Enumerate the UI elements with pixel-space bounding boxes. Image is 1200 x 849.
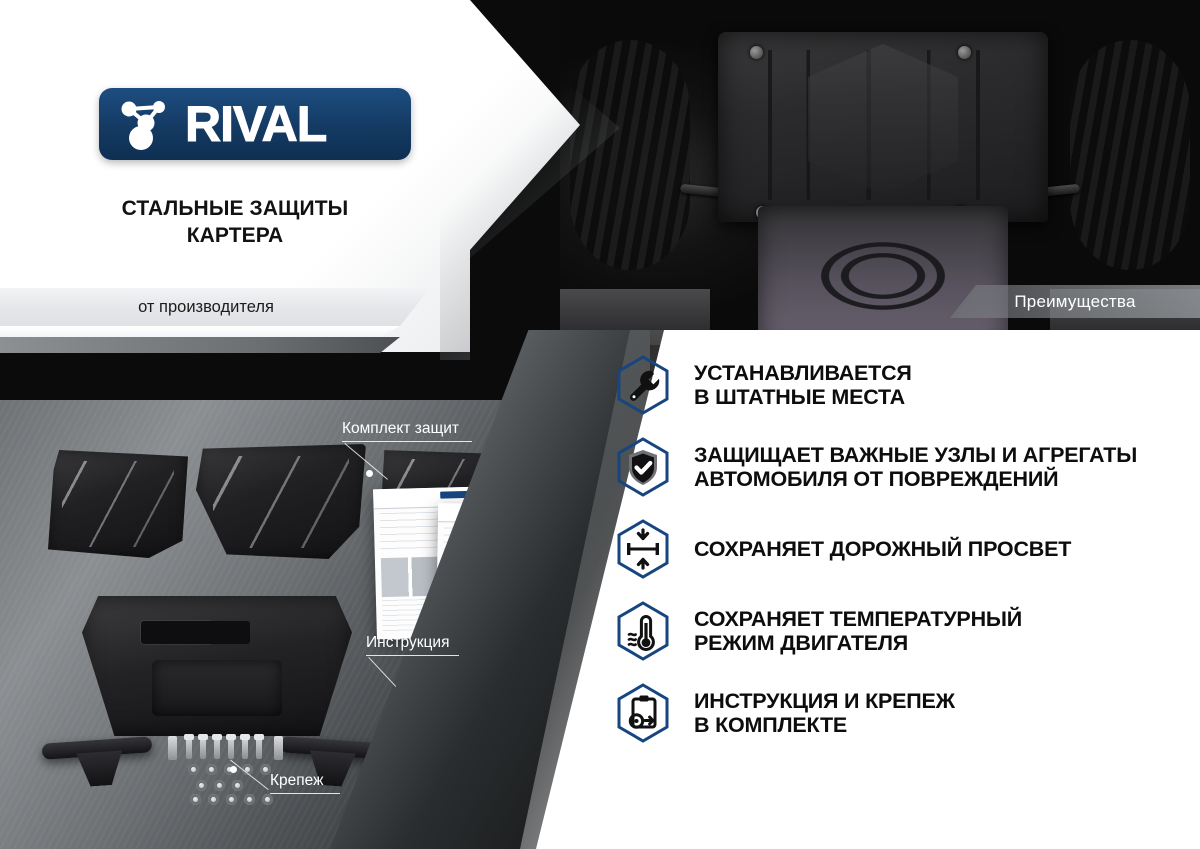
benefits-list: УСТАНАВЛИВАЕТСЯ В ШТАТНЫЕ МЕСТА ЗАЩИЩАЕТ… bbox=[612, 352, 1200, 764]
callout-dot bbox=[366, 470, 373, 477]
washer bbox=[196, 780, 207, 791]
installed-skid-plate-main bbox=[718, 32, 1048, 222]
clipboard-parts-icon bbox=[612, 682, 674, 744]
hardware-set bbox=[168, 736, 288, 806]
logo-wordmark: RIVAL bbox=[185, 99, 326, 149]
washer bbox=[262, 794, 273, 805]
benefit-item-temperature: СОХРАНЯЕТ ТЕМПЕРАТУРНЫЙ РЕЖИМ ДВИГАТЕЛЯ bbox=[612, 600, 1200, 662]
benefit-label: СОХРАНЯЕТ ТЕМПЕРАТУРНЫЙ РЕЖИМ ДВИГАТЕЛЯ bbox=[694, 607, 1022, 656]
molecule-icon bbox=[115, 96, 177, 152]
bolt bbox=[200, 737, 206, 759]
washer bbox=[232, 780, 243, 791]
callout-rule bbox=[342, 441, 472, 442]
washer bbox=[188, 764, 199, 775]
promo-poster: Преимущества bbox=[0, 0, 1200, 849]
washer bbox=[214, 780, 225, 791]
bolt bbox=[228, 737, 234, 759]
benefit-label: СОХРАНЯЕТ ДОРОЖНЫЙ ПРОСВЕТ bbox=[694, 537, 1071, 562]
washer bbox=[208, 794, 219, 805]
page-title: СТАЛЬНЫЕ ЗАЩИТЫ КАРТЕРА bbox=[0, 196, 470, 250]
mount-bolt bbox=[958, 46, 971, 59]
bolt bbox=[242, 737, 248, 759]
installed-skid-plate-lower bbox=[758, 206, 1008, 345]
benefit-label: ИНСТРУКЦИЯ И КРЕПЕЖ В КОМПЛЕКТЕ bbox=[694, 689, 955, 738]
spacer-plate bbox=[274, 736, 283, 760]
shield-check-icon bbox=[612, 436, 674, 498]
skid-plate-piece bbox=[48, 450, 188, 558]
washer bbox=[206, 764, 217, 775]
bolt bbox=[214, 737, 220, 759]
bolt bbox=[186, 737, 192, 759]
callout-rule bbox=[270, 793, 340, 794]
tire-right bbox=[1070, 40, 1190, 270]
subtitle-bar: от производителя bbox=[0, 288, 430, 326]
washer bbox=[226, 794, 237, 805]
benefit-item-protection: ЗАЩИЩАЕТ ВАЖНЫЕ УЗЛЫ И АГРЕГАТЫ АВТОМОБИ… bbox=[612, 436, 1200, 498]
rival-logo: RIVAL bbox=[99, 88, 411, 160]
benefit-label: ЗАЩИЩАЕТ ВАЖНЫЕ УЗЛЫ И АГРЕГАТЫ АВТОМОБИ… bbox=[694, 443, 1137, 492]
spacer-plate bbox=[168, 736, 177, 760]
benefit-item-installation: УСТАНАВЛИВАЕТСЯ В ШТАТНЫЕ МЕСТА bbox=[612, 354, 1200, 416]
callout-rule bbox=[366, 655, 459, 656]
subtitle-bar-underline bbox=[0, 326, 400, 337]
benefit-label: УСТАНАВЛИВАЕТСЯ В ШТАТНЫЕ МЕСТА bbox=[694, 361, 912, 410]
advantages-tab: Преимущества bbox=[950, 285, 1200, 318]
benefit-item-clearance: СОХРАНЯЕТ ДОРОЖНЫЙ ПРОСВЕТ bbox=[612, 518, 1200, 580]
bolt bbox=[256, 737, 262, 759]
callout-instruction-label: Инструкция bbox=[366, 634, 459, 655]
washer bbox=[244, 794, 255, 805]
skid-plate-piece bbox=[196, 444, 366, 559]
washer bbox=[190, 794, 201, 805]
advantages-tab-label: Преимущества bbox=[1014, 292, 1135, 312]
skid-plate-large bbox=[82, 596, 352, 736]
callout-kit: Комплект защит bbox=[342, 420, 472, 442]
benefit-item-kit: ИНСТРУКЦИЯ И КРЕПЕЖ В КОМПЛЕКТЕ bbox=[612, 682, 1200, 744]
mounting-bracket-left bbox=[42, 736, 153, 760]
callout-kit-label: Комплект защит bbox=[342, 420, 472, 441]
callout-hardware: Крепеж bbox=[270, 772, 340, 794]
ground-clearance-icon bbox=[612, 518, 674, 580]
mount-bolt bbox=[750, 46, 763, 59]
callout-hardware-label: Крепеж bbox=[270, 772, 340, 793]
callout-dot bbox=[230, 766, 237, 773]
callout-instruction: Инструкция bbox=[366, 634, 459, 656]
wrench-icon bbox=[612, 354, 674, 416]
subtitle-text: от производителя bbox=[138, 298, 274, 317]
thermometer-icon bbox=[612, 600, 674, 662]
